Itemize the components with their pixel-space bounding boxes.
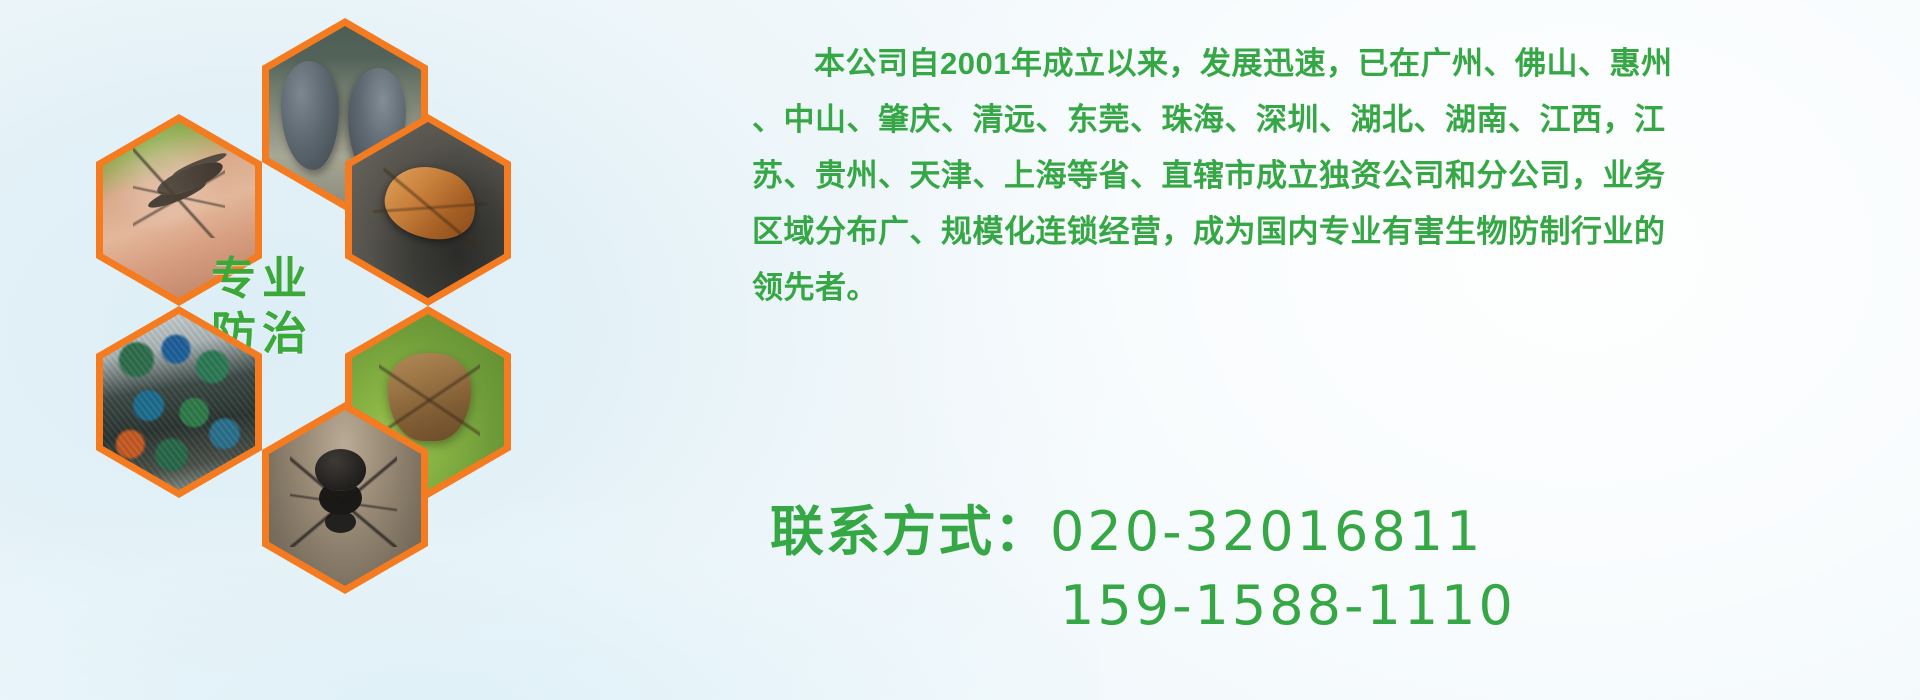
flies-photo: [103, 314, 255, 490]
honeycomb-collage: 专业 防治: [96, 18, 596, 578]
contact-phone-secondary[interactable]: 159-1588-1110: [1060, 574, 1516, 637]
contact-secondary-line: 159-1588-1110: [770, 569, 1516, 643]
contact-primary-line: 联系方式：020-32016811: [770, 495, 1516, 569]
contact-phone-primary[interactable]: 020-32016811: [1050, 500, 1483, 563]
promo-banner: 专业 防治 本公司自2001年成立以来，发展迅速，已在广州、佛山、惠州 、中山、…: [0, 0, 1920, 700]
contact-block: 联系方式：020-32016811 159-1588-1110: [770, 495, 1516, 643]
description-line-2: 、中山、肇庆、清远、东莞、珠海、深圳、湖北、湖南、江西，江: [752, 92, 1822, 148]
contact-label: 联系方式：: [770, 502, 1050, 562]
description-line-3: 苏、贵州、天津、上海等省、直辖市成立独资公司和分公司，业务: [752, 148, 1822, 204]
center-label-line1: 专业: [211, 256, 313, 301]
description-line-5: 领先者。: [752, 260, 1822, 316]
ant-photo: [269, 410, 421, 586]
description-line-1: 本公司自2001年成立以来，发展迅速，已在广州、佛山、惠州: [752, 36, 1822, 92]
company-description: 本公司自2001年成立以来，发展迅速，已在广州、佛山、惠州 、中山、肇庆、清远、…: [752, 36, 1822, 316]
cockroach-photo: [352, 122, 504, 298]
description-line-4: 区域分布广、规模化连锁经营，成为国内专业有害生物防制行业的: [752, 204, 1822, 260]
